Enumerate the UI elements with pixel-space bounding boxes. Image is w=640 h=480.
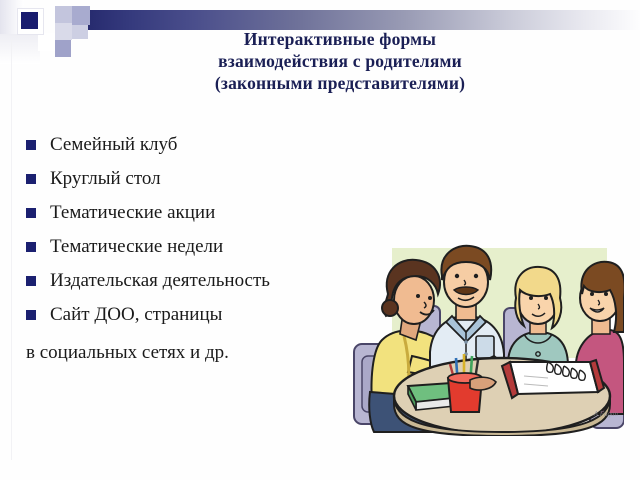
square-bullet-icon xyxy=(26,276,36,286)
meeting-illustration: A.Fagan xyxy=(352,236,624,436)
decoration-square-d xyxy=(72,25,88,39)
square-bullet-icon xyxy=(26,242,36,252)
decoration-square-e xyxy=(38,33,55,51)
list-item: Сайт ДОО, страницы xyxy=(26,298,356,332)
list-item-label: Издательская деятельность xyxy=(50,269,270,293)
list-item: Тематические недели xyxy=(26,230,356,264)
decoration-square-b xyxy=(72,6,90,25)
list-item-label: Семейный клуб xyxy=(50,133,177,157)
slide-title-line-1: Интерактивные формы xyxy=(130,28,550,50)
list-item-label: Тематические акции xyxy=(50,201,215,225)
square-bullet-icon xyxy=(26,174,36,184)
list-item-label: Сайт ДОО, страницы xyxy=(50,303,222,327)
slide-canvas: Интерактивные формы взаимодействия с род… xyxy=(0,0,640,480)
list-item-label: Круглый стол xyxy=(50,167,161,191)
bullet-list: Семейный клуб Круглый стол Тематические … xyxy=(26,128,356,332)
square-bullet-icon xyxy=(26,310,36,320)
list-item: Круглый стол xyxy=(26,162,356,196)
list-item: Тематические акции xyxy=(26,196,356,230)
square-bullet-icon xyxy=(26,208,36,218)
list-item: Семейный клуб xyxy=(26,128,356,162)
decoration-square-f xyxy=(55,40,71,57)
list-item: Издательская деятельность xyxy=(26,264,356,298)
list-continuation-line: в социальных сетях и др. xyxy=(26,341,229,365)
list-item-label: Тематические недели xyxy=(50,235,223,259)
slide-title: Интерактивные формы взаимодействия с род… xyxy=(130,28,550,94)
decoration-fade-left-lower xyxy=(0,34,40,64)
slide-title-line-3: (законными представителями) xyxy=(130,72,550,94)
decoration-square-c xyxy=(55,23,72,40)
slide-title-line-2: взаимодействия с родителями xyxy=(130,50,550,72)
header-gradient-bar xyxy=(86,10,640,30)
slide-left-hairline xyxy=(11,40,12,460)
square-bullet-icon xyxy=(26,140,36,150)
decoration-square-a xyxy=(55,6,72,23)
decoration-square-navy xyxy=(21,12,38,29)
illustration-signature: A.Fagan xyxy=(594,410,618,418)
